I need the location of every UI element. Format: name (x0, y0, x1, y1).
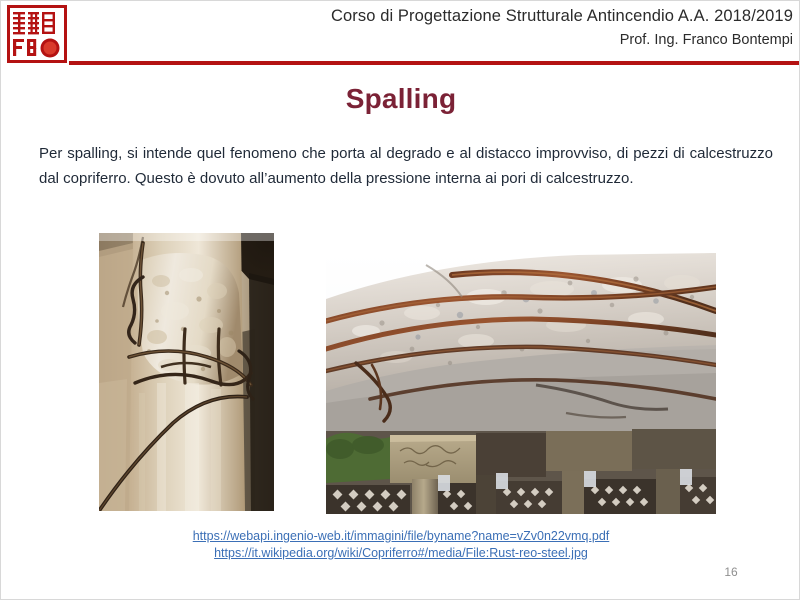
source-link-1[interactable]: https://webapi.ingenio-web.it/immagini/f… (1, 528, 800, 545)
page-title: Spalling (1, 83, 800, 115)
body-paragraph: Per spalling, si intende quel fenomeno c… (39, 141, 773, 191)
photo-column (99, 233, 274, 511)
slide-header: Corso di Progettazione Strutturale Antin… (1, 1, 800, 67)
professor-name: Prof. Ing. Franco Bontempi (53, 30, 793, 51)
header-text-block: Corso di Progettazione Strutturale Antin… (53, 5, 793, 51)
source-links: https://webapi.ingenio-web.it/immagini/f… (1, 528, 800, 562)
source-link-2[interactable]: https://it.wikipedia.org/wiki/Copriferro… (1, 545, 800, 562)
course-title: Corso di Progettazione Strutturale Antin… (53, 5, 793, 27)
header-divider-rule (69, 61, 800, 65)
photo-ceiling (326, 253, 716, 514)
slide-canvas: Corso di Progettazione Strutturale Antin… (0, 0, 800, 600)
page-number: 16 (701, 565, 761, 579)
